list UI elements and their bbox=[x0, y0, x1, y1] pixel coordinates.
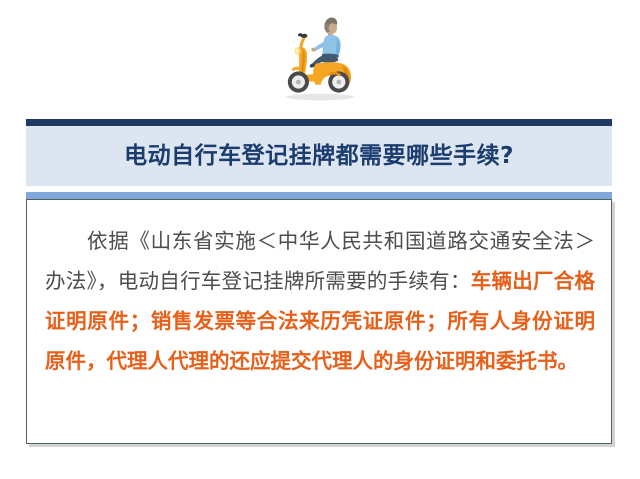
content-card: 依据《山东省实施＜中华人民共和国道路交通安全法＞办法》，电动自行车登记挂牌所需要… bbox=[26, 199, 612, 444]
title-underbar-divider bbox=[26, 192, 612, 199]
page-title: 电动自行车登记挂牌都需要哪些手续? bbox=[26, 126, 612, 186]
title-card: 电动自行车登记挂牌都需要哪些手续? bbox=[26, 119, 612, 186]
scooter-rider-icon bbox=[268, 13, 372, 105]
hero-illustration-area bbox=[0, 0, 640, 118]
content-paragraph: 依据《山东省实施＜中华人民共和国道路交通安全法＞办法》，电动自行车登记挂牌所需要… bbox=[27, 200, 611, 382]
